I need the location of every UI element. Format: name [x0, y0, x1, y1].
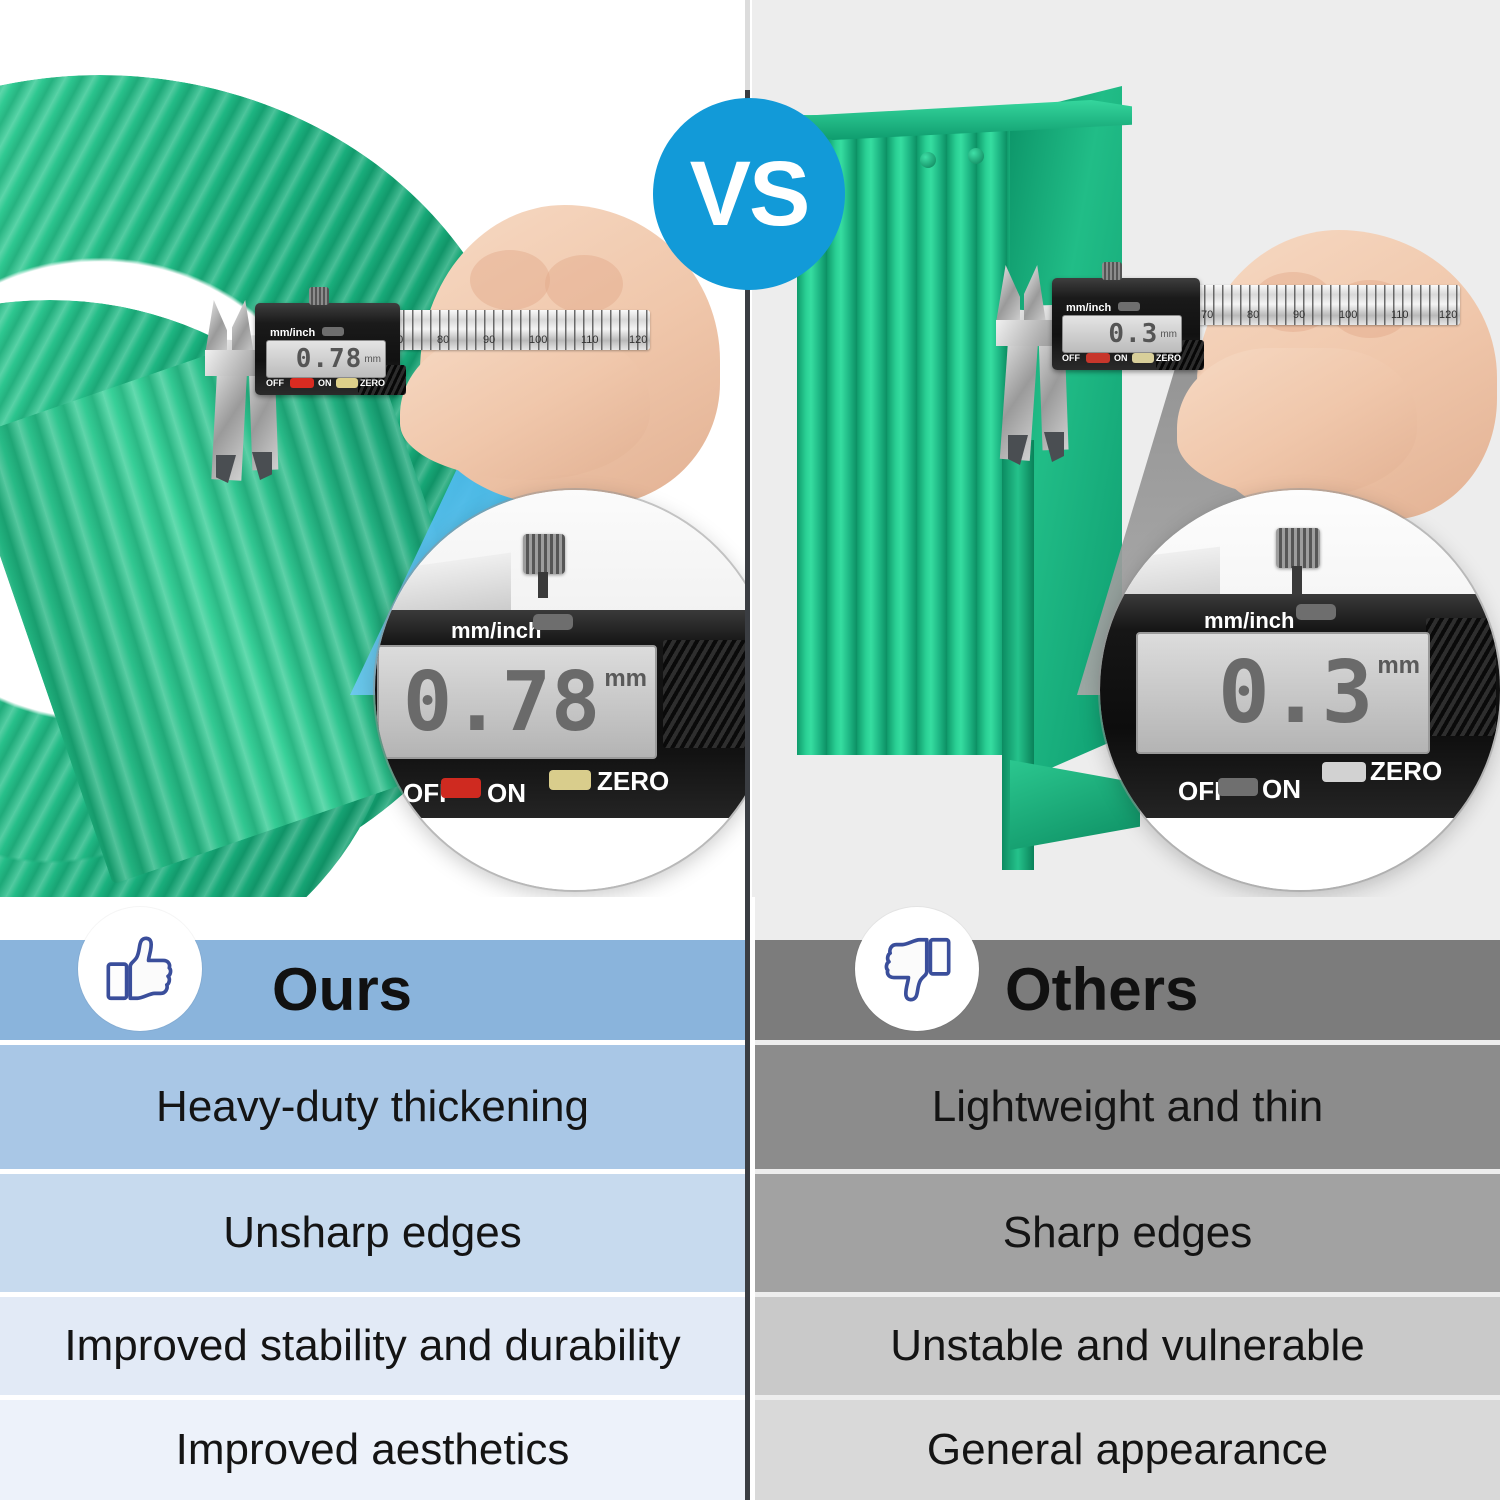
caliper-lcd-display: 0.3 mm	[1062, 315, 1182, 353]
ours-row-1: Heavy-duty thickening	[0, 1045, 745, 1169]
caliper-thumb-screw	[309, 287, 329, 305]
magnifier-lcd-display: 0.3 mm	[1136, 632, 1430, 754]
magnifier-on-label: ON	[487, 778, 526, 809]
magnifier-thumb-screw[interactable]	[523, 534, 565, 574]
ours-row-3-text: Improved stability and durability	[64, 1324, 680, 1368]
caliper-unit-button[interactable]	[322, 327, 344, 336]
scale-number: 120	[1439, 309, 1457, 321]
scale-number: 90	[1293, 309, 1305, 321]
knuckle	[470, 250, 550, 310]
caliper-on-label: ON	[318, 378, 332, 388]
caliper-lcd-display: 0.78 mm	[266, 340, 386, 378]
knuckle	[545, 255, 623, 313]
caliper-display-unit: mm	[364, 354, 381, 365]
scale-number: 110	[1391, 309, 1409, 321]
others-row-2: Sharp edges	[755, 1174, 1500, 1292]
caliper-mode-label: mm/inch	[1066, 302, 1111, 314]
others-row-3: Unstable and vulnerable	[755, 1297, 1500, 1395]
magnifier-unit-button[interactable]	[1296, 604, 1336, 620]
caliper-display-value: 0.3	[1108, 319, 1158, 349]
magnifier-on-label: ON	[1262, 774, 1301, 805]
caliper-mode-label: mm/inch	[270, 327, 315, 339]
ours-row-3: Improved stability and durability	[0, 1297, 745, 1395]
scale-number: 80	[437, 334, 449, 346]
ours-row-2: Unsharp edges	[0, 1174, 745, 1292]
caliper-scale-numbers: 70 80 90 100 110 120	[1195, 309, 1460, 323]
caliper-unit-button[interactable]	[1118, 302, 1140, 311]
vs-badge: VS	[653, 98, 845, 290]
ours-row-2-text: Unsharp edges	[223, 1211, 521, 1255]
caliper-off-label: OFF	[266, 378, 284, 388]
others-row-1-text: Lightweight and thin	[932, 1085, 1323, 1129]
others-title: Others	[1005, 960, 1198, 1020]
ours-title: Ours	[272, 960, 412, 1020]
magnifier-lcd-display: 0.78 mm	[377, 645, 657, 759]
ours-row-4: Improved aesthetics	[0, 1400, 745, 1500]
caliper-power-switch[interactable]	[290, 378, 314, 388]
caliper-display-value: 0.78	[296, 344, 363, 374]
magnifier-thumb-screw[interactable]	[1276, 528, 1320, 568]
magnifier-zero-button[interactable]	[1322, 762, 1366, 782]
magnifier-unit-button[interactable]	[533, 614, 573, 630]
scale-number: 70	[1201, 309, 1213, 321]
thumbs-up-icon	[101, 930, 179, 1008]
thumbs-down-badge	[855, 907, 979, 1031]
comparison-table: Ours Heavy-duty thickening Unsharp edges…	[0, 897, 1500, 1500]
others-row-1: Lightweight and thin	[755, 1045, 1500, 1169]
caliper-thumb-screw[interactable]	[1102, 262, 1122, 280]
thumbs-up-badge	[78, 907, 202, 1031]
magnified-caliper-right: mm/inch 0.3 mm OFF ON ZERO	[1100, 490, 1500, 890]
caliper-on-label: ON	[1114, 353, 1128, 363]
others-row-3-text: Unstable and vulnerable	[890, 1324, 1365, 1368]
scale-number: 90	[483, 334, 495, 346]
caliper-zero-label: ZERO	[360, 378, 385, 388]
magnifier-mode-label: mm/inch	[451, 618, 541, 644]
others-row-4-text: General appearance	[927, 1428, 1328, 1472]
scale-number: 100	[529, 334, 547, 346]
table-center-divider	[745, 897, 750, 1500]
ours-row-4-text: Improved aesthetics	[176, 1428, 570, 1472]
magnifier-mode-label: mm/inch	[1204, 608, 1294, 634]
bed-bolt	[920, 152, 936, 168]
scale-number: 120	[629, 334, 647, 346]
caliper-display-unit: mm	[1160, 329, 1177, 340]
magnifier-body-ridges	[663, 640, 747, 748]
caliper-scale-bar: 70 80 90 100 110 120	[1195, 285, 1460, 325]
right-product-photo: 70 80 90 100 110 120	[752, 0, 1500, 897]
magnifier-display-unit: mm	[1377, 652, 1420, 680]
magnifier-display-value: 0.78	[403, 655, 600, 750]
others-row-2-text: Sharp edges	[1003, 1211, 1253, 1255]
scale-number: 80	[1247, 309, 1259, 321]
caliper-power-switch[interactable]	[1086, 353, 1110, 363]
magnifier-power-switch[interactable]	[1218, 778, 1258, 796]
magnifier-power-switch[interactable]	[441, 778, 481, 798]
ours-row-1-text: Heavy-duty thickening	[156, 1085, 589, 1129]
left-product-photo: 70 80 90 100 110 120	[0, 0, 748, 897]
hand-left-fingers	[400, 330, 650, 480]
photo-comparison-area: 70 80 90 100 110 120	[0, 0, 1500, 897]
caliper-scale-bar: 70 80 90 100 110 120	[385, 310, 650, 350]
magnified-caliper-left: mm/inch 0.78 mm OFF ON ZERO	[375, 490, 748, 890]
caliper-zero-button[interactable]	[1132, 353, 1154, 363]
thumbs-down-icon	[878, 930, 956, 1008]
magnifier-zero-label: ZERO	[597, 766, 669, 797]
caliper-zero-label: ZERO	[1156, 353, 1181, 363]
scale-number: 110	[581, 334, 599, 346]
magnifier-display-unit: mm	[604, 665, 647, 693]
scale-number: 100	[1339, 309, 1357, 321]
others-row-4: General appearance	[755, 1400, 1500, 1500]
magnifier-display-value: 0.3	[1218, 643, 1373, 743]
magnifier-zero-label: ZERO	[1370, 756, 1442, 787]
magnifier-body-ridges	[1426, 618, 1496, 736]
caliper-scale-numbers: 70 80 90 100 110 120	[385, 334, 650, 348]
comparison-infographic: 70 80 90 100 110 120	[0, 0, 1500, 1500]
magnifier-screw-stem	[1292, 566, 1302, 594]
caliper-zero-button[interactable]	[336, 378, 358, 388]
magnifier-screw-stem	[538, 572, 548, 598]
caliper-off-label: OFF	[1062, 353, 1080, 363]
hand-right-fingers	[1177, 348, 1417, 498]
magnifier-zero-button[interactable]	[549, 770, 591, 790]
bed-bolt	[968, 148, 984, 164]
vs-label: VS	[690, 148, 809, 240]
